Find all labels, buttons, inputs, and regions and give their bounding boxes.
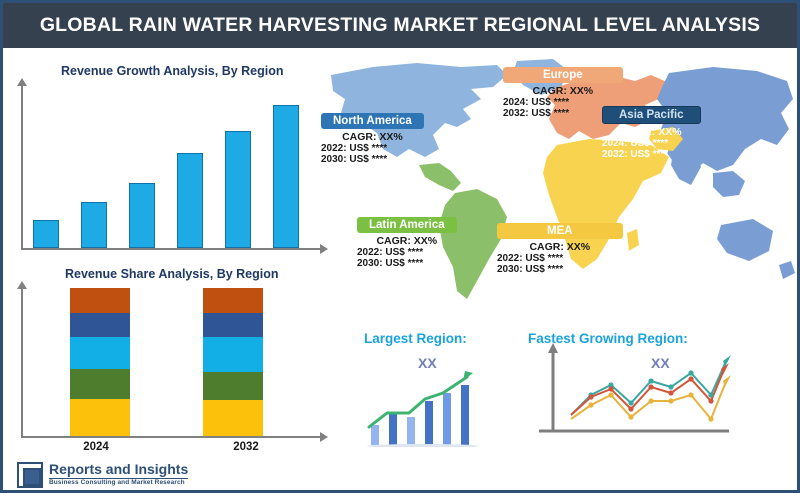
cagr-north-america: CAGR: XX% [321, 131, 424, 143]
growth-x-axis [21, 248, 321, 250]
growth-bar-3 [129, 183, 155, 248]
share-segment-segment-green-2032 [203, 372, 263, 400]
callout-lines-asia-pacific: CAGR: XX% 2024: US$ **** 2032: US$ **** [602, 126, 701, 160]
infographic-poster: GLOBAL RAIN WATER HARVESTING MARKET REGI… [0, 0, 800, 493]
map-region-southeast-asia [713, 171, 745, 197]
largest-region-chart [363, 369, 493, 447]
growth-y-axis [21, 85, 23, 250]
year-line-latin-america-2: 2030: US$ **** [357, 258, 457, 269]
poster-header: GLOBAL RAIN WATER HARVESTING MARKET REGI… [3, 3, 797, 48]
growth-chart-title: Revenue Growth Analysis, By Region [61, 64, 284, 78]
year-line-north-america-1: 2022: US$ **** [321, 143, 424, 154]
chart-bar [389, 413, 397, 445]
share-segment-segment-bottom-2032 [203, 400, 263, 436]
largest-region-title: Largest Region: [364, 331, 467, 346]
callout-asia-pacific: Asia Pacific CAGR: XX% 2024: US$ **** 20… [602, 105, 701, 160]
cagr-asia-pacific: CAGR: XX% [602, 126, 701, 138]
map-region-australia [717, 219, 773, 261]
fgr-y-axis-arrow-icon [548, 343, 558, 353]
share-category-labels: 20242032 [21, 441, 321, 453]
share-stack-2024 [70, 288, 130, 436]
revenue-share-chart [21, 288, 321, 438]
logo-square-icon [17, 462, 43, 488]
share-y-axis [21, 288, 23, 438]
callout-latin-america: Latin America CAGR: XX% 2022: US$ **** 2… [357, 215, 457, 269]
callout-chip-latin-america: Latin America [357, 217, 457, 233]
growth-bar-4 [177, 153, 203, 248]
logo-company-name: Reports and Insights [49, 461, 188, 479]
map-region-new-zealand [779, 261, 795, 279]
growth-bar-1 [33, 220, 59, 248]
callout-mea: MEA CAGR: XX% 2022: US$ **** 2030: US$ *… [497, 221, 623, 275]
share-segment-segment-navy-2032 [203, 313, 263, 337]
callout-lines-north-america: CAGR: XX% 2022: US$ **** 2030: US$ **** [321, 131, 424, 165]
share-segment-segment-bottom-2024 [70, 399, 130, 436]
chart-bar [371, 425, 379, 445]
year-line-mea-2: 2030: US$ **** [497, 264, 623, 275]
callout-lines-mea: CAGR: XX% 2022: US$ **** 2030: US$ **** [497, 241, 623, 275]
share-segment-segment-navy-2024 [70, 313, 130, 337]
growth-bar-2 [81, 202, 107, 248]
brand-logo: Reports and Insights Business Consulting… [17, 461, 267, 491]
chart-bar [443, 393, 451, 445]
share-category-label-2024: 2024 [66, 441, 126, 453]
map-region-madagascar [627, 229, 639, 251]
callout-chip-europe: Europe [503, 67, 623, 83]
fgr-series-yellow-line [571, 379, 727, 419]
share-category-label-2032: 2032 [216, 441, 276, 453]
share-segment-segment-green-2024 [70, 369, 130, 399]
revenue-growth-chart [21, 85, 321, 250]
growth-bar-group [33, 85, 299, 248]
year-line-asia-pacific-2: 2032: US$ **** [602, 149, 701, 160]
logo-tagline: Business Consulting and Market Research [49, 479, 185, 486]
share-stack-group [33, 288, 299, 436]
callout-chip-mea: MEA [497, 223, 623, 239]
page-title: GLOBAL RAIN WATER HARVESTING MARKET REGI… [40, 14, 760, 37]
cagr-europe: CAGR: XX% [503, 85, 623, 97]
chart-trend-line [369, 377, 467, 427]
share-stack-2032 [203, 288, 263, 436]
map-region-central-america [419, 163, 461, 191]
share-x-axis [21, 436, 321, 438]
cagr-latin-america: CAGR: XX% [357, 235, 457, 247]
share-segment-segment-cyan-2024 [70, 337, 130, 370]
year-line-latin-america-1: 2022: US$ **** [357, 247, 457, 258]
share-chart-title: Revenue Share Analysis, By Region [65, 267, 279, 281]
chart-bar [425, 401, 433, 445]
year-line-asia-pacific-1: 2024: US$ **** [602, 138, 701, 149]
growth-bar-6 [273, 105, 299, 248]
growth-bar-5 [225, 131, 251, 248]
year-line-mea-1: 2022: US$ **** [497, 253, 623, 264]
chart-bar [461, 385, 469, 445]
world-map: North America CAGR: XX% 2022: US$ **** 2… [321, 53, 799, 308]
arrow-head-icon [463, 371, 473, 381]
callout-lines-latin-america: CAGR: XX% 2022: US$ **** 2030: US$ **** [357, 235, 457, 269]
year-line-north-america-2: 2030: US$ **** [321, 154, 424, 165]
fastest-growing-region-chart [515, 339, 735, 447]
callout-north-america: North America CAGR: XX% 2022: US$ **** 2… [321, 111, 424, 165]
share-segment-segment-orange-2024 [70, 288, 130, 313]
callout-chip-asia-pacific: Asia Pacific [602, 106, 701, 124]
cagr-mea: CAGR: XX% [497, 241, 623, 253]
share-segment-segment-cyan-2032 [203, 337, 263, 373]
share-segment-segment-orange-2032 [203, 288, 263, 313]
chart-bar [407, 417, 415, 445]
callout-chip-north-america: North America [321, 113, 424, 129]
